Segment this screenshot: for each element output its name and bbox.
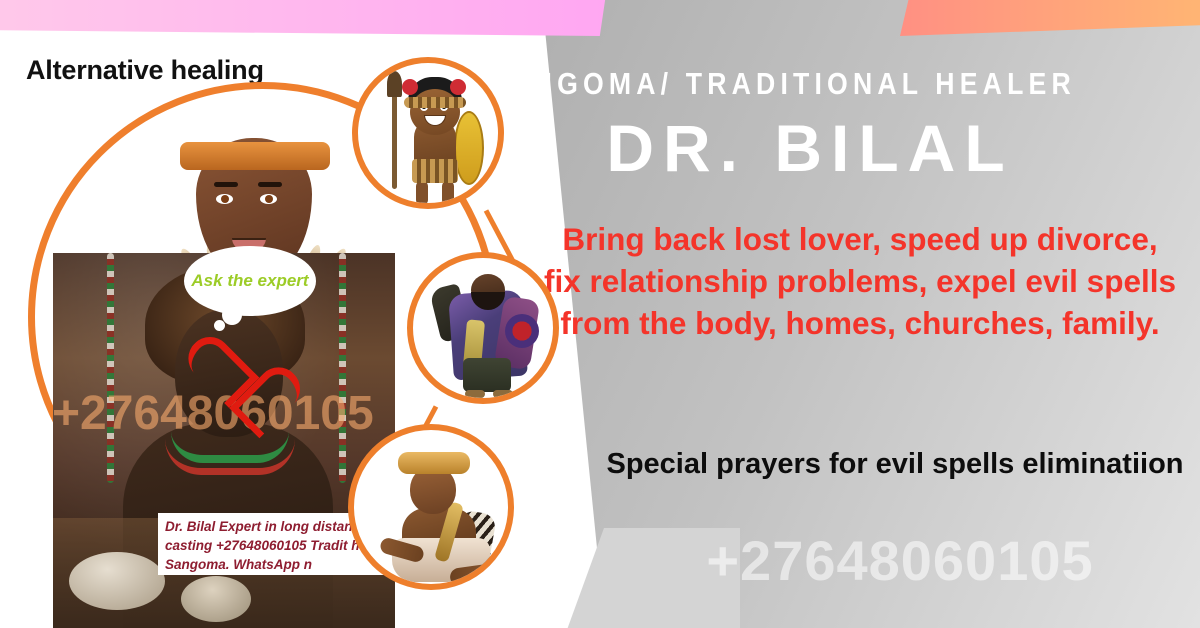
warrior-leg	[442, 181, 454, 205]
sangoma-sandal	[493, 390, 513, 398]
dancer-crown	[398, 452, 470, 474]
warrior-head	[410, 89, 460, 135]
ghost-phone-number: +27648060105	[600, 528, 1200, 593]
warrior-hair-ornament	[450, 79, 466, 95]
speech-bubble-tail	[214, 320, 225, 331]
shield-icon	[454, 111, 484, 185]
photo-bowl	[181, 576, 251, 622]
warrior-headband	[404, 97, 466, 108]
healer-name: DR. BILAL	[0, 110, 1200, 186]
badge-cloaked-sangoma	[407, 252, 559, 404]
heart-icon	[196, 338, 266, 402]
badge-crouching-dancer	[348, 424, 514, 590]
hero-eye	[216, 194, 233, 204]
sangoma-sandal	[465, 390, 485, 398]
photo-neck-beads-red	[165, 439, 295, 475]
hero-eye	[260, 194, 277, 204]
warrior-hair-ornament	[402, 79, 418, 95]
special-prayers-text: Special prayers for evil spells eliminat…	[600, 445, 1190, 483]
sangoma-trousers	[463, 358, 511, 392]
badge-zulu-warrior	[352, 57, 504, 209]
services-text: Bring back lost lover, speed up divorce,…	[540, 218, 1180, 345]
photo-bowl	[69, 552, 165, 610]
ask-the-expert-bubble: Ask the expert	[186, 248, 314, 314]
kicker-title: SANGOMA/ TRADITIONAL HEALER	[84, 66, 1116, 102]
sangoma-shield-medallion	[505, 314, 539, 348]
bead-strand	[339, 253, 346, 483]
spear-icon	[392, 81, 397, 189]
spear-tip-icon	[387, 71, 402, 97]
pink-gradient-bar	[0, 0, 606, 36]
warrior-skirt	[412, 159, 458, 183]
bead-strand	[107, 253, 114, 483]
poster-canvas: Alternative healing	[0, 0, 1200, 628]
warrior-leg	[416, 181, 428, 205]
